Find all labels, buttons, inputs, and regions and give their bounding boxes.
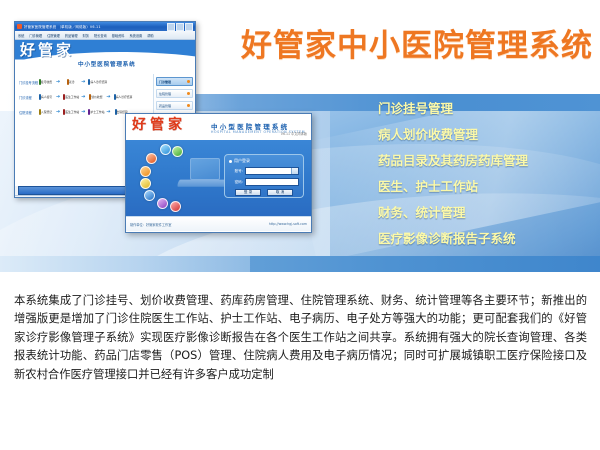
arrow-icon: ➔	[56, 94, 60, 100]
login-account-row: 账号:	[229, 167, 299, 175]
window-controls	[167, 23, 193, 31]
main-window-logo: 好管家	[20, 42, 74, 59]
sidebar-item-label: 住院管理	[159, 92, 171, 96]
feature-item-finance-statistics: 财务、统计管理	[378, 205, 593, 220]
ring-plane-icon	[160, 144, 171, 155]
arrow-icon: ➔	[56, 109, 60, 115]
main-window-titlebar: 好管家医院管理系统 （单机版／网络版）V6.11	[15, 22, 195, 31]
maximize-icon[interactable]	[176, 23, 184, 31]
hero-bottom-strip-left	[0, 256, 250, 272]
footer-company: 制作单位：好管家软件工作室	[130, 222, 171, 227]
feature-item-imaging-report-subsystem: 医疗影像诊断报告子系统	[378, 231, 593, 246]
workflow-node-label: 入院登记	[41, 110, 52, 114]
main-window-subtitle: 中小型医院管理系统	[78, 60, 136, 68]
login-cancel-button[interactable]: 取 消	[267, 189, 293, 196]
workflow-node-label: 病人诊疗结算	[116, 95, 133, 99]
menu-item-system[interactable]: 系统	[18, 33, 24, 38]
arrow-icon: ➔	[81, 94, 85, 100]
feature-item-doctor-nurse-workstation: 医生、护士工作站	[378, 179, 593, 194]
menu-item-finance[interactable]: 财务	[83, 33, 89, 38]
login-panel: 用户登录 账号: 密码: 登 录 取 消	[224, 154, 304, 198]
ring-message-icon	[140, 166, 151, 177]
sidebar-item-outpatient[interactable]: 门诊管理	[156, 77, 193, 86]
main-window-menubar: 系统 门诊管理 住院管理 药品管理 财务 院长查询 基础资料 系统设置 帮助	[15, 31, 195, 40]
login-window-logo: 好管家	[132, 117, 186, 133]
menu-item-help[interactable]: 帮助	[147, 33, 153, 38]
workflow-node[interactable]: 划价收费	[88, 95, 103, 99]
main-window-header-banner: 好管家 中小型医院管理系统	[15, 40, 195, 74]
login-confirm-button[interactable]: 登 录	[235, 189, 261, 196]
password-input[interactable]	[245, 178, 299, 186]
page-title: 好管家中小医院管理系统	[241, 20, 593, 65]
login-window-footer: 制作单位：好管家软件工作室 http://www.hgj-soft.com	[126, 216, 311, 231]
workflow-node[interactable]: 病人诊疗结算	[88, 80, 103, 84]
sidebar-item-drugs[interactable]: 药品管理	[156, 101, 193, 110]
sidebar-item-inpatient[interactable]: 住院管理	[156, 89, 193, 98]
icon-ring-decoration	[138, 144, 190, 206]
promo-page: 好管家中小医院管理系统 门诊挂号管理 病人划价收费管理 药品目录及其药房药库管理…	[0, 0, 600, 450]
login-window-body: 用户登录 账号: 密码: 登 录 取 消	[126, 140, 311, 216]
minimize-icon[interactable]	[167, 23, 175, 31]
arrow-icon: ➔	[106, 94, 110, 100]
ring-trophy-icon	[140, 178, 151, 189]
workflow-node[interactable]: 入院登记	[38, 110, 53, 114]
menu-item-outpatient[interactable]: 门诊管理	[29, 33, 42, 38]
workflow-row: 门诊挂号流程 挂号收费 ➔ 就诊 ➔ 病人诊疗结算	[19, 79, 151, 85]
footer-website[interactable]: http://www.hgj-soft.com	[269, 222, 307, 226]
workflow-node-label: 病人挂号	[41, 95, 52, 99]
login-panel-title-text: 用户登录	[234, 158, 250, 164]
workflow-node[interactable]: 护士工作站	[88, 110, 103, 114]
arrow-icon: ➔	[81, 109, 85, 115]
menu-item-settings[interactable]: 系统设置	[130, 33, 143, 38]
account-input[interactable]	[245, 167, 299, 175]
menu-item-drugs[interactable]: 药品管理	[65, 33, 78, 38]
workflow-node-label: 医生工作站	[65, 95, 79, 99]
arrow-icon: ➔	[56, 79, 60, 85]
password-label: 密码:	[229, 180, 243, 185]
workflow-node[interactable]: 病人诊疗结算	[114, 95, 129, 99]
sidebar-item-label: 药品管理	[159, 104, 171, 108]
ring-leaf-icon	[172, 146, 183, 157]
ring-chart-icon	[170, 201, 181, 212]
product-description: 本系统集成了门诊挂号、划价收费管理、药库药房管理、住院管理系统、财务、统计管理等…	[14, 292, 587, 384]
bullet-icon	[187, 92, 190, 95]
login-button-group: 登 录 取 消	[229, 189, 299, 196]
ring-database-icon	[157, 198, 168, 209]
workflow-node-label: 就诊	[69, 80, 75, 84]
workflow-node[interactable]: 医生工作站	[63, 110, 78, 114]
sidebar-item-label: 门诊管理	[159, 80, 171, 84]
ring-flame-icon	[146, 153, 157, 164]
feature-item-patient-pricing-billing: 病人划价收费管理	[378, 127, 593, 142]
workflow-row: 门诊流程 病人挂号 ➔ 医生工作站 ➔ 划价收费 ➔	[19, 94, 151, 100]
feature-item-drug-catalog-pharmacy: 药品目录及其药房药库管理	[378, 153, 593, 168]
feature-item-outpatient-registration: 门诊挂号管理	[378, 101, 593, 116]
bullet-icon	[229, 160, 232, 163]
main-window-title-text: 好管家医院管理系统 （单机版／网络版）V6.11	[24, 24, 167, 29]
account-label: 账号:	[229, 169, 243, 174]
login-window-version: V6.11 中文简体版	[281, 131, 307, 136]
workflow-node-label: 划价收费	[91, 95, 102, 99]
workflow-node[interactable]: 病人挂号	[38, 95, 53, 99]
workflow-row-label: 门诊挂号流程	[19, 80, 35, 85]
app-logo-icon	[17, 24, 22, 29]
close-icon[interactable]	[185, 23, 193, 31]
workflow-node-label: 挂号收费	[41, 80, 52, 84]
bullet-icon	[187, 104, 190, 107]
workflow-node-label: 病人诊疗结算	[90, 80, 107, 84]
menu-item-base-data[interactable]: 基础资料	[112, 33, 125, 38]
login-password-row: 密码:	[229, 178, 299, 186]
screenshot-login-window: 好管家 中小型医院管理系统 HOSPITAL MANAGEMENT OPERAT…	[125, 113, 312, 233]
menu-item-inpatient[interactable]: 住院管理	[47, 33, 60, 38]
chevron-down-icon[interactable]	[291, 168, 298, 174]
login-window-header: 好管家 中小型医院管理系统 HOSPITAL MANAGEMENT OPERAT…	[126, 114, 311, 140]
workflow-node-label: 护士工作站	[90, 110, 104, 114]
feature-list: 门诊挂号管理 病人划价收费管理 药品目录及其药房药库管理 医生、护士工作站 财务…	[378, 101, 593, 257]
workflow-node[interactable]: 就诊	[63, 80, 78, 84]
workflow-row-label: 门诊流程	[19, 95, 35, 100]
laptop-screen-shape	[190, 158, 220, 180]
workflow-node-label: 医生工作站	[65, 110, 79, 114]
workflow-row-label: 住院流程	[19, 110, 35, 115]
login-panel-title: 用户登录	[229, 158, 299, 164]
arrow-icon: ➔	[81, 79, 85, 85]
workflow-node[interactable]: 医生工作站	[63, 95, 78, 99]
menu-item-director-query[interactable]: 院长查询	[94, 33, 107, 38]
workflow-node[interactable]: 挂号收费	[38, 80, 53, 84]
arrow-icon: ➔	[106, 109, 110, 115]
ring-network-icon	[144, 190, 155, 201]
bullet-icon	[187, 80, 190, 83]
